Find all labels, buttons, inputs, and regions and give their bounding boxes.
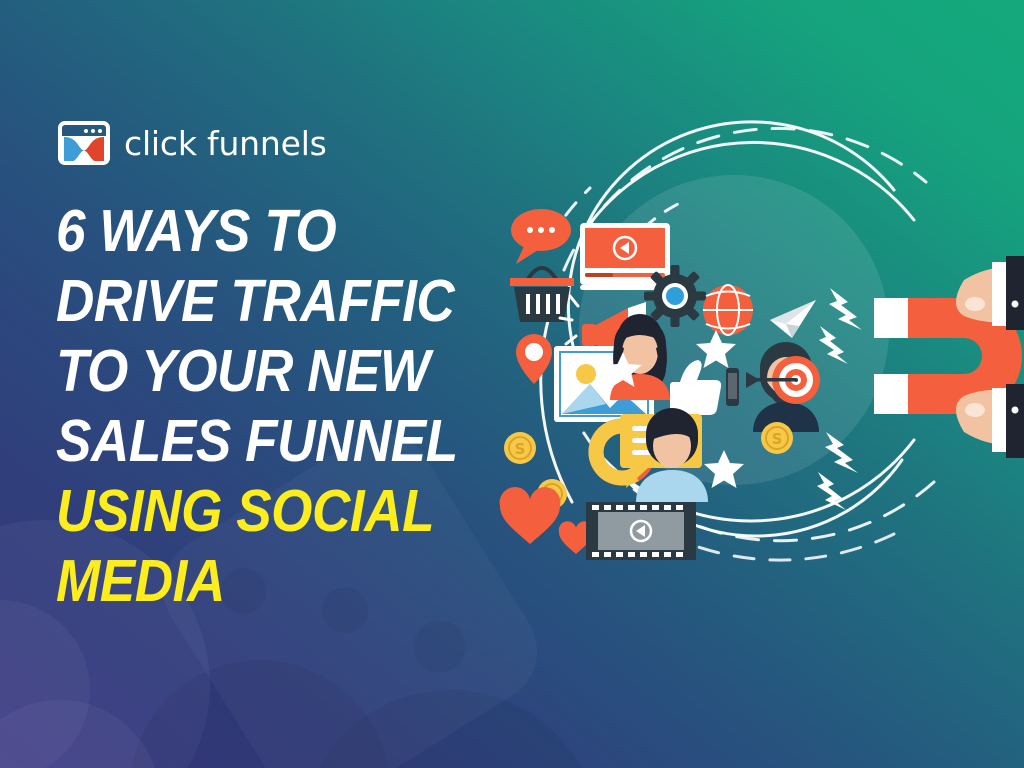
location-pin-icon xyxy=(516,334,552,384)
headline-line-4: SALES FUNNEL xyxy=(56,406,524,476)
logo-screen xyxy=(62,136,106,161)
heart-icon xyxy=(500,487,561,544)
gear-settings-icon xyxy=(644,265,706,327)
funnel-shapes xyxy=(62,136,106,161)
headline-line-1: 6 WAYS TO xyxy=(56,196,524,266)
browser-dots xyxy=(62,125,106,136)
clickfunnels-logo[interactable]: click funnels xyxy=(58,121,327,165)
headline-line-5: USING SOCIAL xyxy=(56,476,524,546)
headline-line-2: DRIVE TRAFFIC xyxy=(56,266,524,336)
speech-bubble-icon xyxy=(511,209,571,264)
poster-canvas: click funnels 6 WAYS TO DRIVE TRAFFIC TO… xyxy=(0,0,1024,768)
clickfunnels-browser-funnel-icon xyxy=(58,121,110,165)
suit-sleeve-icon xyxy=(992,384,1024,458)
illustration-svg: S S xyxy=(494,130,1024,560)
svg-text:S: S xyxy=(772,430,783,448)
globe-icon xyxy=(703,285,753,335)
shopping-basket-icon xyxy=(510,268,574,322)
film-strip-icon xyxy=(586,502,696,560)
background-blob xyxy=(0,600,90,768)
background-blob xyxy=(300,690,600,768)
headline-line-6: MEDIA xyxy=(56,546,524,616)
suit-sleeve-icon xyxy=(992,256,1024,330)
watermark-dot xyxy=(404,611,476,683)
mobile-phone-icon xyxy=(726,368,739,406)
coin-icon: S xyxy=(761,422,793,454)
coin-icon: S xyxy=(504,432,536,464)
brand-name: click funnels xyxy=(124,127,327,160)
social-media-magnet-illustration: S S xyxy=(494,130,1024,560)
background-blob xyxy=(130,660,390,768)
background-blob xyxy=(0,700,160,768)
headline-line-3: TO YOUR NEW xyxy=(56,336,524,406)
svg-text:S: S xyxy=(515,440,526,458)
